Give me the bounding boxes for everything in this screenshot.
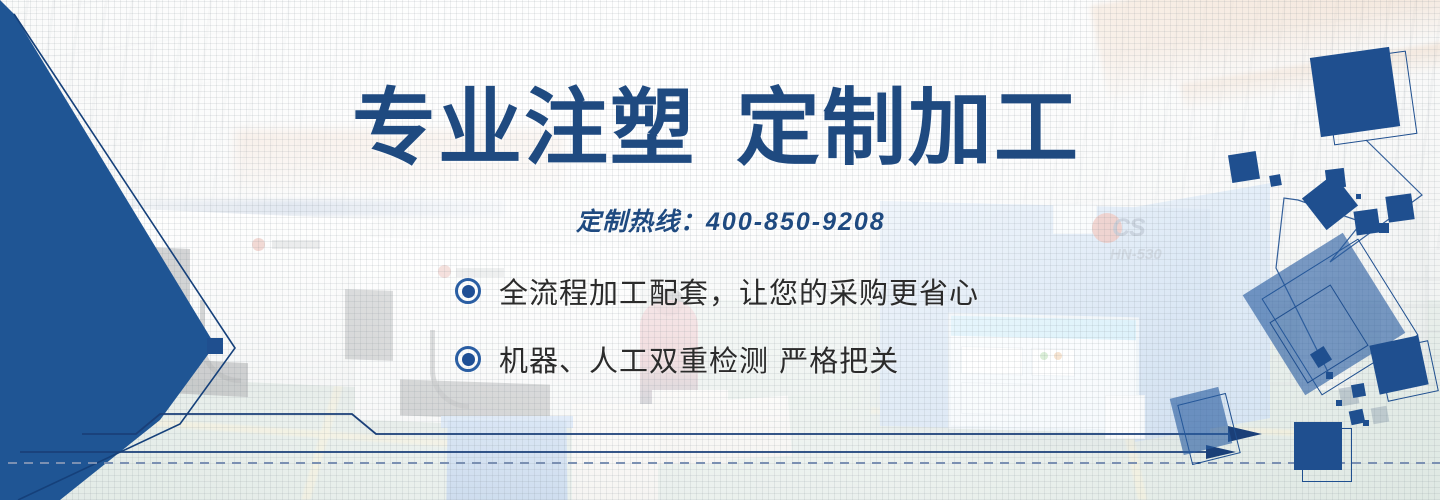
list-item: 机器、人工双重检测 严格把关 (455, 334, 979, 384)
headline-part-2: 定制加工 (736, 79, 1080, 177)
decor-square-solid-tiny (1269, 174, 1282, 187)
decor-square-solid-medium (1369, 335, 1428, 394)
decor-dot (1326, 372, 1333, 379)
decor-square-solid-tiny (1351, 383, 1366, 398)
decor-square-solid-small (1353, 208, 1380, 235)
page-title: 专业注塑定制加工 (352, 80, 1112, 176)
list-item: 全流程加工配套，让您的采购更省心 (455, 266, 979, 316)
ring-dot-icon (455, 278, 481, 304)
decor-square-solid-large (1310, 47, 1400, 137)
promo-banner: CS HN-530 (0, 0, 1440, 500)
decor-square-solid-bottom (1294, 422, 1342, 470)
decor-square-faint (1371, 406, 1390, 425)
decor-square-solid-small (1385, 193, 1414, 222)
feature-list: 全流程加工配套，让您的采购更省心 机器、人工双重检测 严格把关 (455, 266, 979, 402)
headline-part-1: 专业注塑 (352, 79, 696, 177)
feature-text: 全流程加工配套，让您的采购更省心 (499, 270, 979, 312)
decor-square-solid-small (1228, 151, 1260, 183)
feature-text: 机器、人工双重检测 严格把关 (499, 338, 899, 380)
decor-square-solid-tiny (1379, 223, 1389, 233)
hotline-line: 定制热线：400-850-9208 (576, 202, 886, 238)
hotline-label: 定制热线： (576, 208, 706, 236)
ring-dot-icon (455, 346, 481, 372)
decor-dot (1363, 420, 1369, 426)
hotline-number: 400-850-9208 (706, 208, 886, 236)
decor-dot (1336, 400, 1342, 406)
decor-dot (1356, 194, 1361, 199)
